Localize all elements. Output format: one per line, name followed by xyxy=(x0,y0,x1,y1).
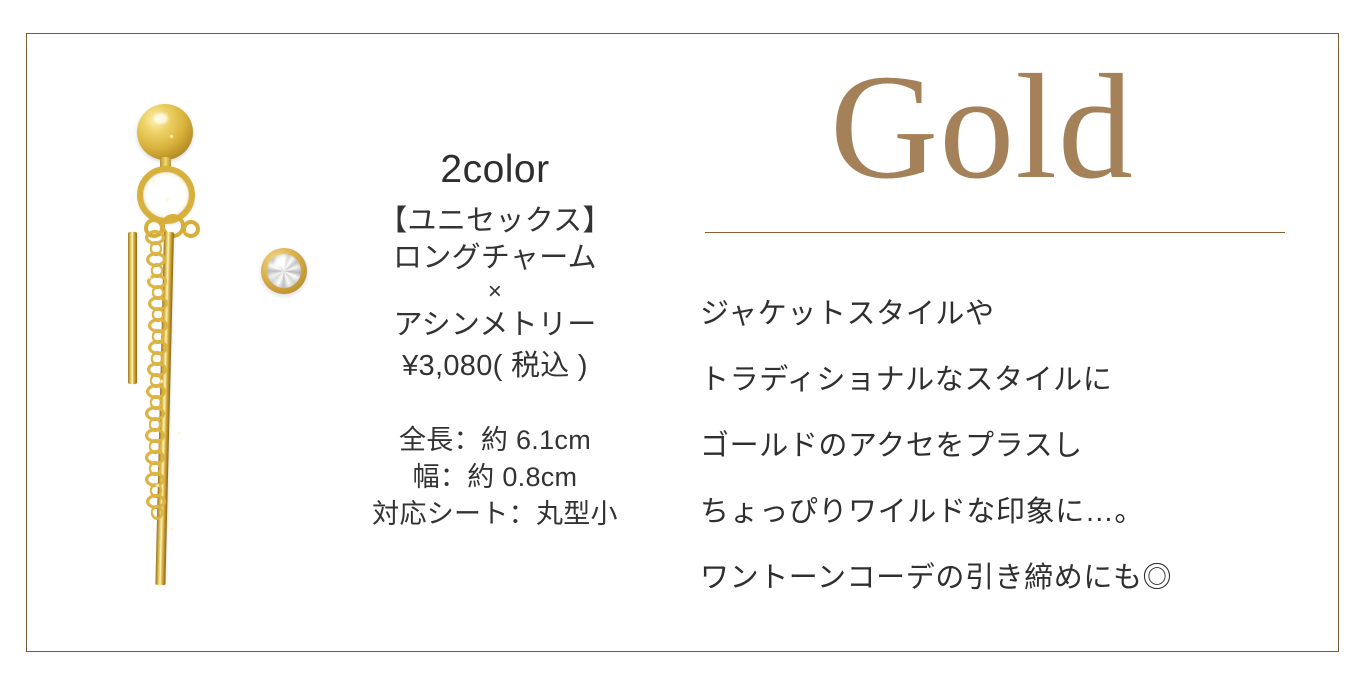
product-image xyxy=(60,80,350,620)
price-label: ¥3,080( 税込 ) xyxy=(330,346,660,386)
dimension-width: 幅：約 0.8cm xyxy=(330,459,660,496)
dimension-total-length: 全長：約 6.1cm xyxy=(330,422,660,459)
sparkle-icon xyxy=(148,276,151,279)
chain-link-icon xyxy=(151,505,163,520)
product-spec-block: 2color 【ユニセックス】 ロングチャーム × アシンメトリー ¥3,080… xyxy=(330,150,660,533)
sparkle-icon xyxy=(156,120,159,123)
description-line: トラディショナルなスタイルに xyxy=(700,347,1320,413)
sparkle-icon xyxy=(160,380,163,383)
crystal-stone-icon xyxy=(267,254,301,288)
product-name-line: アシンメトリー xyxy=(330,307,660,344)
jump-ring-icon xyxy=(182,220,200,238)
description-line: ゴールドのアクセをプラスし xyxy=(700,413,1320,479)
gold-ball-stud-icon xyxy=(137,104,193,160)
title-divider xyxy=(705,232,1285,233)
description-line: ジャケットスタイルや xyxy=(700,281,1320,347)
sparkle-icon xyxy=(156,484,159,487)
page-title: Gold xyxy=(830,52,1134,202)
sparkle-icon xyxy=(152,180,155,183)
sparkle-icon xyxy=(186,230,189,233)
sparkle-icon xyxy=(170,528,173,531)
product-name-line: ロングチャーム xyxy=(330,240,660,277)
dimensions-block: 全長：約 6.1cm 幅：約 0.8cm 対応シート：丸型小 xyxy=(330,422,660,533)
description-block: ジャケットスタイルや トラディショナルなスタイルに ゴールドのアクセをプラスし … xyxy=(700,281,1320,611)
product-name-separator: × xyxy=(330,277,660,307)
sparkle-icon xyxy=(170,135,173,138)
sparkle-icon xyxy=(172,330,175,333)
product-banner: 2color 【ユニセックス】 ロングチャーム × アシンメトリー ¥3,080… xyxy=(0,0,1366,685)
sparkle-icon xyxy=(166,198,169,201)
description-line: ちょっぴりワイルドな印象に…。 xyxy=(700,479,1320,545)
product-name-line: 【ユニセックス】 xyxy=(330,203,660,240)
sparkle-icon xyxy=(178,432,181,435)
short-flat-bar-charm xyxy=(128,232,137,384)
description-line: ワントーンコーデの引き締めにも◎ xyxy=(700,545,1320,611)
sparkle-icon xyxy=(144,250,147,253)
color-count-heading: 2color xyxy=(330,150,660,189)
crystal-bezel-stud-earring xyxy=(261,248,307,294)
dimension-sheet-type: 対応シート：丸型小 xyxy=(330,496,660,533)
